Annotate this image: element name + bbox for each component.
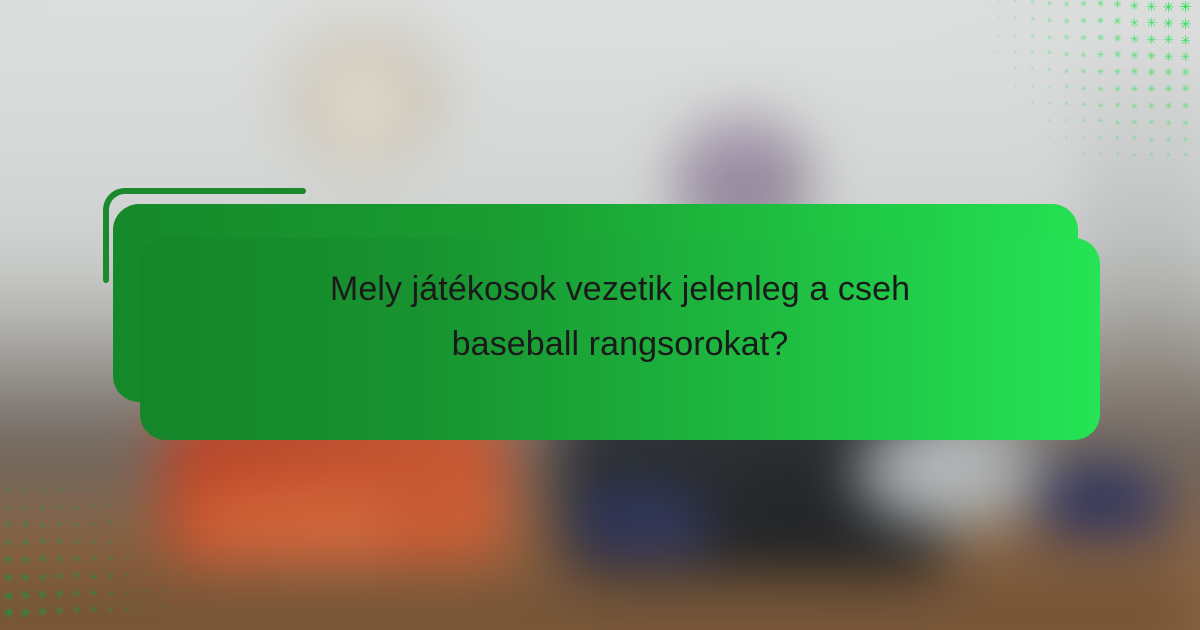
question-headline: Mely játékosok vezetik jelenleg a cseh b… [140,262,1100,372]
question-card-canvas: ✳✳✳✳✳✳✳✳✳✳✳✳✳✳✳✳✳✳✳✳✳✳✳✳✳✳✳✳✳✳✳✳✳✳✳✳✳✳✳✳… [0,0,1200,630]
